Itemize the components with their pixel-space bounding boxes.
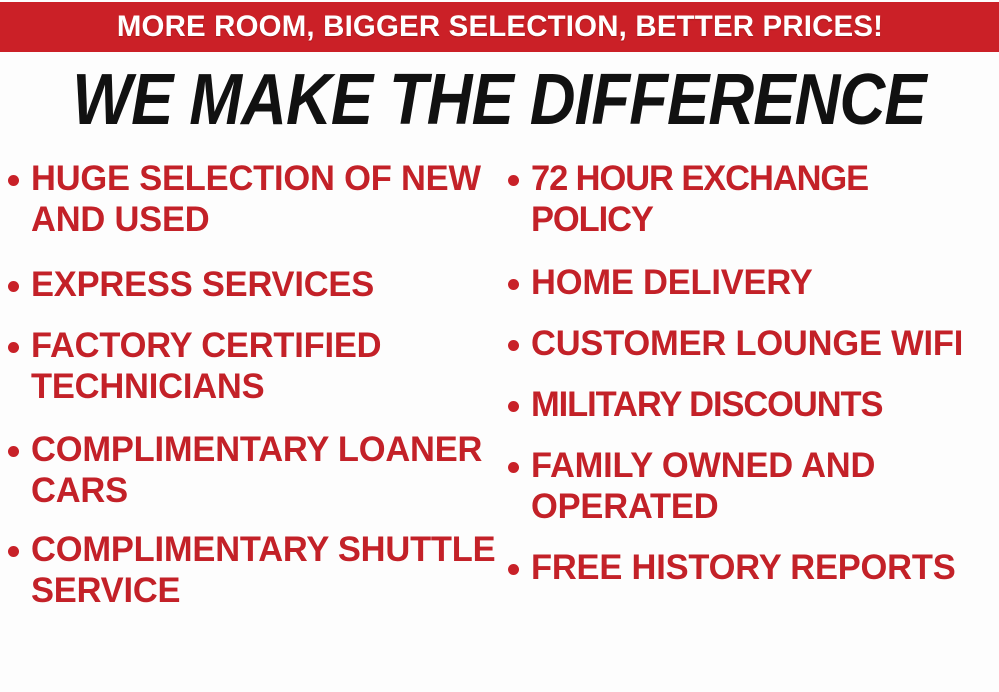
list-item: HOME DELIVERY: [508, 262, 999, 303]
list-item: FREE HISTORY REPORTS: [508, 547, 999, 588]
list-item-label: HOME DELIVERY: [531, 262, 992, 303]
benefits-columns: HUGE SELECTION OF NEW AND USED EXPRESS S…: [0, 158, 999, 692]
list-item: HUGE SELECTION OF NEW AND USED: [8, 158, 503, 240]
list-item-label: CUSTOMER LOUNGE WIFI: [531, 323, 992, 364]
benefits-column-left: HUGE SELECTION OF NEW AND USED EXPRESS S…: [8, 158, 503, 692]
bullet-dot-icon: [508, 462, 519, 473]
list-item: FAMILY OWNED AND OPERATED: [508, 445, 999, 527]
dealership-advertisement: MORE ROOM, BIGGER SELECTION, BETTER PRIC…: [0, 0, 999, 692]
bullet-dot-icon: [508, 340, 519, 351]
list-item: EXPRESS SERVICES: [8, 264, 503, 305]
promo-banner-text: MORE ROOM, BIGGER SELECTION, BETTER PRIC…: [116, 12, 882, 42]
bullet-dot-icon: [8, 281, 19, 292]
list-item-label: FREE HISTORY REPORTS: [531, 547, 992, 588]
list-item-label: FACTORY CERTIFIED TECHNICIANS: [31, 325, 496, 407]
list-item-label: COMPLIMENTARY SHUTTLE SERVICE: [31, 529, 496, 611]
list-item: COMPLIMENTARY SHUTTLE SERVICE: [8, 529, 503, 611]
bullet-dot-icon: [8, 546, 19, 557]
benefits-column-right: 72 HOUR EXCHANGE POLICY HOME DELIVERY CU…: [508, 158, 999, 692]
list-item-label: MILITARY DISCOUNTS: [531, 384, 992, 425]
bullet-dot-icon: [508, 564, 519, 575]
list-item-label: 72 HOUR EXCHANGE POLICY: [531, 158, 992, 240]
bullet-dot-icon: [508, 175, 519, 186]
bullet-dot-icon: [8, 175, 19, 186]
bullet-dot-icon: [508, 401, 519, 412]
list-item-label: HUGE SELECTION OF NEW AND USED: [31, 158, 496, 240]
bullet-dot-icon: [508, 279, 519, 290]
headline: WE MAKE THE DIFFERENCE: [0, 64, 999, 136]
list-item-label: EXPRESS SERVICES: [31, 264, 496, 305]
list-item-label: FAMILY OWNED AND OPERATED: [531, 445, 992, 527]
promo-banner: MORE ROOM, BIGGER SELECTION, BETTER PRIC…: [0, 2, 999, 52]
list-item: 72 HOUR EXCHANGE POLICY: [508, 158, 999, 240]
list-item: COMPLIMENTARY LOANER CARS: [8, 429, 503, 511]
list-item-label: COMPLIMENTARY LOANER CARS: [31, 429, 496, 511]
list-item: CUSTOMER LOUNGE WIFI: [508, 323, 999, 364]
headline-text: WE MAKE THE DIFFERENCE: [73, 64, 927, 136]
bullet-dot-icon: [8, 342, 19, 353]
bullet-dot-icon: [8, 446, 19, 457]
list-item: FACTORY CERTIFIED TECHNICIANS: [8, 325, 503, 407]
list-item: MILITARY DISCOUNTS: [508, 384, 999, 425]
